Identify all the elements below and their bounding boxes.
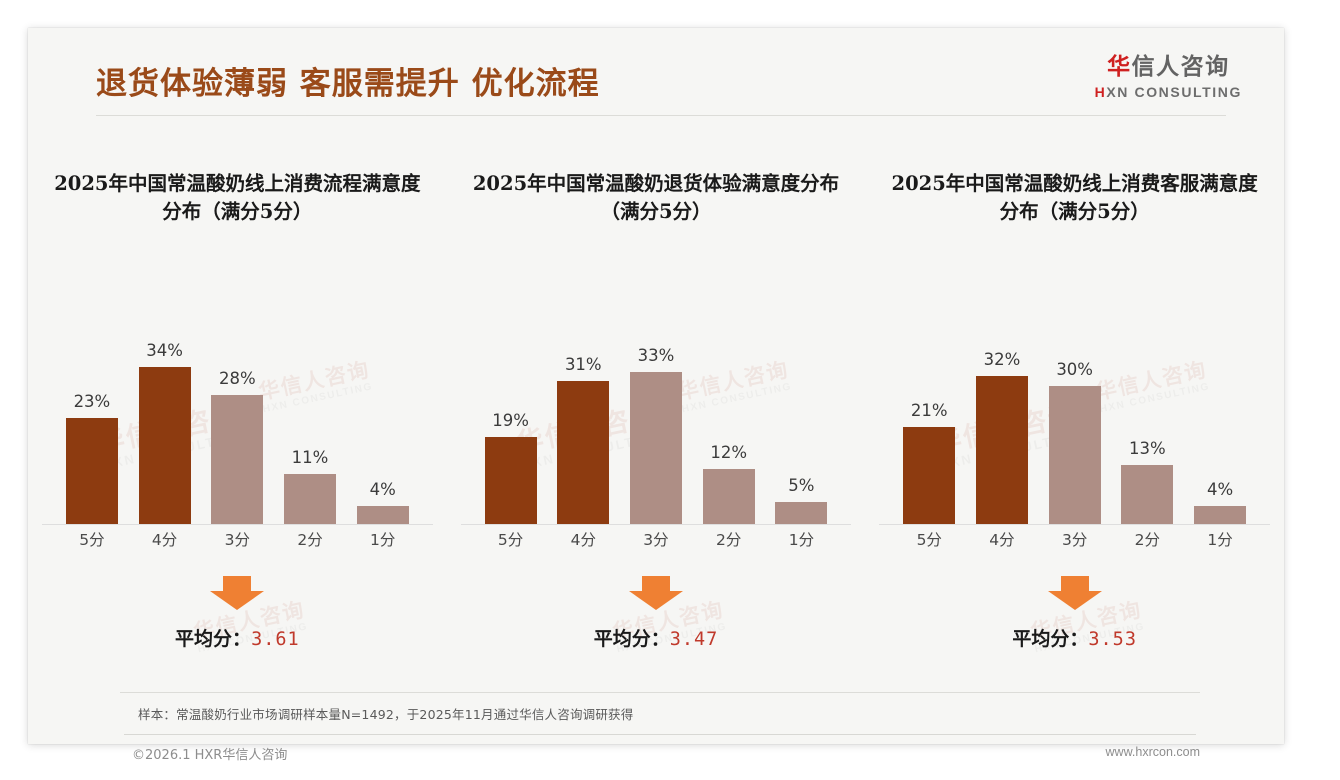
logo-en-highlight: H: [1095, 84, 1107, 100]
bar-value-label: 31%: [565, 355, 602, 374]
x-axis-tick-label: 4分: [133, 528, 197, 550]
x-axis-tick-label: 1分: [1188, 528, 1252, 550]
x-axis-line: [461, 524, 852, 525]
bar-value-label: 32%: [984, 350, 1021, 369]
slide: 退货体验薄弱 客服需提升 优化流程 华信人咨询 HXN CONSULTING 2…: [28, 28, 1284, 744]
footer-divider: [124, 734, 1196, 735]
chart-title: 2025年中国常温酸奶线上消费流程满意度分布（满分5分）: [52, 170, 422, 225]
bar-value-label: 19%: [492, 411, 529, 430]
x-axis-tick-label: 2分: [278, 528, 342, 550]
x-axis-labels: 5分4分3分2分1分: [897, 527, 1252, 551]
arrow-shaft: [223, 576, 251, 592]
logo-english-text: HXN CONSULTING: [1095, 85, 1242, 99]
arrow-head: [1048, 591, 1102, 610]
bar[interactable]: [703, 469, 755, 525]
bar-item[interactable]: 31%: [551, 306, 615, 525]
bar-value-label: 4%: [1207, 480, 1233, 499]
x-axis-tick-label: 2分: [697, 528, 761, 550]
down-arrow-wrap: [28, 576, 447, 610]
bar[interactable]: [630, 372, 682, 525]
logo-cn-rest: 信人咨询: [1132, 54, 1230, 80]
bar-group: 19%31%33%12%5%: [479, 306, 834, 525]
average-score-label: 平均分：: [594, 628, 670, 650]
chart-panel-3: 2025年中国常温酸奶线上消费客服满意度分布（满分5分）华信人咨询HXN CON…: [865, 156, 1284, 676]
arrow-head: [210, 591, 264, 610]
plot-area: 19%31%33%12%5%5分4分3分2分1分: [461, 306, 852, 551]
bar-item[interactable]: 30%: [1043, 306, 1107, 525]
chart-title: 2025年中国常温酸奶线上消费客服满意度分布（满分5分）: [890, 170, 1260, 225]
bar[interactable]: [485, 437, 537, 525]
average-score-value: 3.47: [670, 629, 719, 650]
bar[interactable]: [976, 376, 1028, 525]
bar-item[interactable]: 34%: [133, 306, 197, 525]
x-axis-tick-label: 3分: [624, 528, 688, 550]
company-logo: 华信人咨询 HXN CONSULTING: [1095, 56, 1242, 99]
charts-row: 2025年中国常温酸奶线上消费流程满意度分布（满分5分）华信人咨询HXN CON…: [28, 156, 1284, 676]
x-axis-tick-label: 5分: [479, 528, 543, 550]
x-axis-labels: 5分4分3分2分1分: [60, 527, 415, 551]
bar-item[interactable]: 33%: [624, 306, 688, 525]
bar-value-label: 21%: [911, 401, 948, 420]
logo-en-rest: XN CONSULTING: [1106, 84, 1242, 100]
bar[interactable]: [284, 474, 336, 525]
source-divider: [120, 692, 1200, 693]
down-arrow-wrap: [865, 576, 1284, 610]
bar[interactable]: [66, 418, 118, 525]
bar-item[interactable]: 32%: [970, 306, 1034, 525]
page-title: 退货体验薄弱 客服需提升 优化流程: [96, 58, 600, 103]
copyright-text: ©2026.1 HXR华信人咨询: [132, 744, 287, 763]
down-arrow-icon: [1048, 576, 1102, 610]
average-score: 平均分：3.53: [865, 624, 1284, 651]
bar-item[interactable]: 4%: [351, 306, 415, 525]
bar-item[interactable]: 28%: [205, 306, 269, 525]
x-axis-tick-label: 2分: [1115, 528, 1179, 550]
plot-area: 23%34%28%11%4%5分4分3分2分1分: [42, 306, 433, 551]
plot-area: 21%32%30%13%4%5分4分3分2分1分: [879, 306, 1270, 551]
x-axis-tick-label: 5分: [897, 528, 961, 550]
chart-title: 2025年中国常温酸奶退货体验满意度分布（满分5分）: [471, 170, 841, 225]
website-url: www.hxrcon.com: [1106, 745, 1200, 759]
bar[interactable]: [557, 381, 609, 525]
logo-cn-highlight: 华: [1107, 54, 1132, 80]
bar-item[interactable]: 19%: [479, 306, 543, 525]
bar-value-label: 11%: [292, 448, 329, 467]
bar[interactable]: [139, 367, 191, 525]
bar-value-label: 23%: [74, 392, 111, 411]
bar-item[interactable]: 23%: [60, 306, 124, 525]
arrow-shaft: [642, 576, 670, 592]
x-axis-tick-label: 1分: [351, 528, 415, 550]
bar[interactable]: [1194, 506, 1246, 525]
average-score-value: 3.53: [1088, 629, 1137, 650]
down-arrow-icon: [629, 576, 683, 610]
x-axis-tick-label: 4分: [551, 528, 615, 550]
x-axis-line: [42, 524, 433, 525]
title-divider: [96, 115, 1226, 116]
x-axis-line: [879, 524, 1270, 525]
x-axis-tick-label: 1分: [769, 528, 833, 550]
arrow-head: [629, 591, 683, 610]
bar-value-label: 34%: [146, 341, 183, 360]
chart-panel-1: 2025年中国常温酸奶线上消费流程满意度分布（满分5分）华信人咨询HXN CON…: [28, 156, 447, 676]
x-axis-tick-label: 3分: [1043, 528, 1107, 550]
arrow-shaft: [1061, 576, 1089, 592]
bar-value-label: 5%: [788, 476, 814, 495]
down-arrow-wrap: [447, 576, 866, 610]
slide-header: 退货体验薄弱 客服需提升 优化流程 华信人咨询 HXN CONSULTING: [28, 28, 1284, 118]
average-score-label: 平均分：: [1012, 628, 1088, 650]
bar-group: 23%34%28%11%4%: [60, 306, 415, 525]
x-axis-labels: 5分4分3分2分1分: [479, 527, 834, 551]
bar-item[interactable]: 21%: [897, 306, 961, 525]
x-axis-tick-label: 4分: [970, 528, 1034, 550]
bar[interactable]: [775, 502, 827, 525]
bar-group: 21%32%30%13%4%: [897, 306, 1252, 525]
average-score-value: 3.61: [251, 629, 300, 650]
bar-value-label: 12%: [710, 443, 747, 462]
bar[interactable]: [903, 427, 955, 525]
bar-item[interactable]: 13%: [1115, 306, 1179, 525]
bar-item[interactable]: 11%: [278, 306, 342, 525]
average-score-label: 平均分：: [175, 628, 251, 650]
bar[interactable]: [1049, 386, 1101, 526]
bar-value-label: 30%: [1056, 360, 1093, 379]
average-score: 平均分：3.61: [28, 624, 447, 651]
logo-chinese-text: 华信人咨询: [1095, 56, 1242, 79]
bar-value-label: 33%: [638, 346, 675, 365]
chart-panel-2: 2025年中国常温酸奶退货体验满意度分布（满分5分）华信人咨询HXN CONSU…: [447, 156, 866, 676]
bar-item[interactable]: 5%: [769, 306, 833, 525]
bar-value-label: 4%: [370, 480, 396, 499]
bar-value-label: 13%: [1129, 439, 1166, 458]
average-score: 平均分：3.47: [447, 624, 866, 651]
x-axis-tick-label: 3分: [205, 528, 269, 550]
source-note: 样本：常温酸奶行业市场调研样本量N=1492，于2025年11月通过华信人咨询调…: [138, 704, 633, 723]
x-axis-tick-label: 5分: [60, 528, 124, 550]
bar-value-label: 28%: [219, 369, 256, 388]
bar-item[interactable]: 4%: [1188, 306, 1252, 525]
bar-item[interactable]: 12%: [697, 306, 761, 525]
down-arrow-icon: [210, 576, 264, 610]
bar[interactable]: [1121, 465, 1173, 525]
bar[interactable]: [211, 395, 263, 525]
bar[interactable]: [357, 506, 409, 525]
